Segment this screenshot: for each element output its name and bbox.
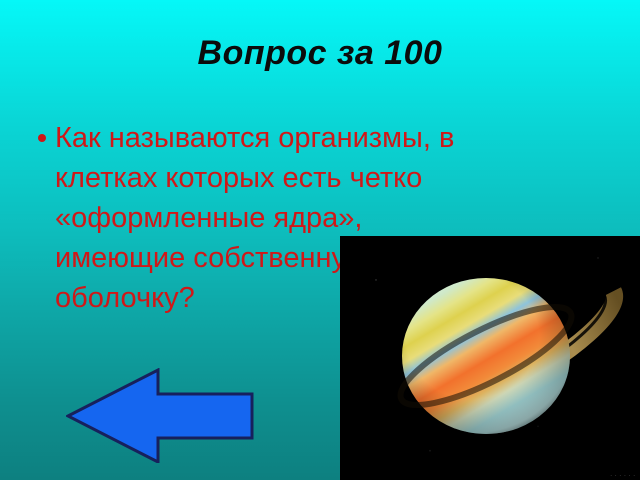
left-arrow-icon[interactable] xyxy=(68,370,252,462)
page-title: Вопрос за 100 xyxy=(0,34,640,73)
image-watermark: ...... xyxy=(609,471,637,478)
saturn-photo: ...... xyxy=(340,236,640,480)
saturn-illustration xyxy=(340,236,640,480)
question-line-1: Как называются организмы, в xyxy=(55,118,454,158)
question-block: Как называются организмы, в клетках кото… xyxy=(38,118,338,318)
question-line-3: «оформленные ядра», xyxy=(55,198,454,238)
bullet-list-item: Как называются организмы, в клетках кото… xyxy=(38,118,338,318)
slide-canvas: Вопрос за 100 Как называются организмы, … xyxy=(0,0,640,480)
back-arrow-button[interactable] xyxy=(66,368,254,463)
bullet-dot-icon xyxy=(38,134,46,142)
question-line-2: клетках которых есть четко xyxy=(55,158,454,198)
